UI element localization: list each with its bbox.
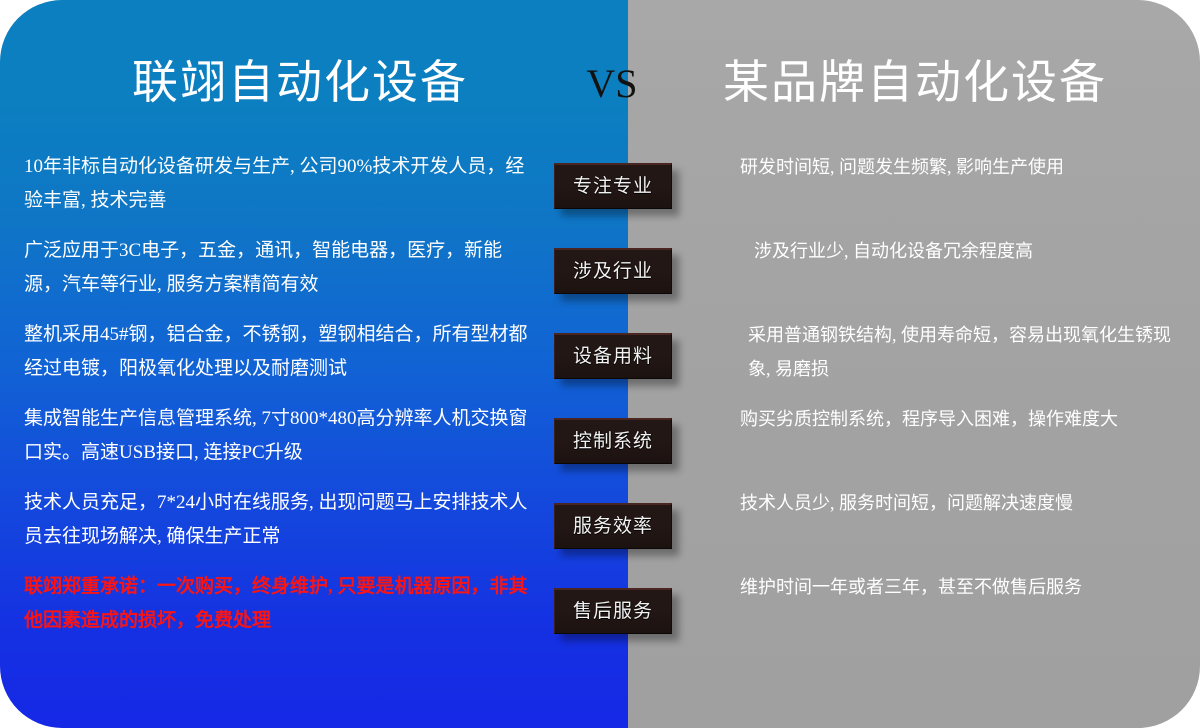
center-category-plaques: 专注专业 涉及行业 设备用料 控制系统 服务效率 售后服务 — [0, 0, 1200, 728]
comparison-infographic: 联翊自动化设备 VS 某品牌自动化设备 10年非标自动化设备研发与生产, 公司9… — [0, 0, 1200, 728]
category-plaque-label: 售后服务 — [573, 602, 653, 622]
category-plaque-after-sales: 售后服务 — [554, 588, 672, 634]
category-plaque-label: 涉及行业 — [573, 262, 653, 282]
category-plaque-materials: 设备用料 — [554, 333, 672, 379]
category-plaque-focus: 专注专业 — [554, 163, 672, 209]
category-plaque-service-efficiency: 服务效率 — [554, 503, 672, 549]
category-plaque-control-system: 控制系统 — [554, 418, 672, 464]
comparison-card: 联翊自动化设备 VS 某品牌自动化设备 10年非标自动化设备研发与生产, 公司9… — [0, 0, 1200, 728]
category-plaque-label: 专注专业 — [573, 177, 653, 197]
category-plaque-label: 服务效率 — [573, 517, 653, 537]
category-plaque-industries: 涉及行业 — [554, 248, 672, 294]
category-plaque-label: 设备用料 — [573, 347, 653, 367]
category-plaque-label: 控制系统 — [573, 432, 653, 452]
